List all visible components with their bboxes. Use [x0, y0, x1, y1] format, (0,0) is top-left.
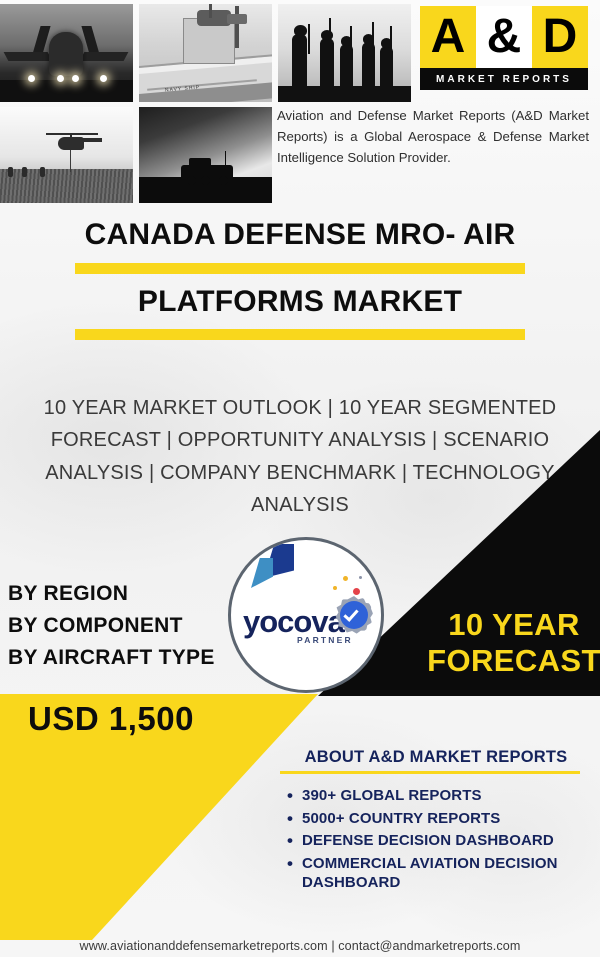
- segmentation-list: BY REGION BY COMPONENT BY AIRCRAFT TYPE: [8, 578, 215, 674]
- price-label: USD 1,500: [28, 700, 194, 738]
- verified-check-icon: [335, 596, 373, 634]
- about-bullet-country-reports: 5000+ COUNTRY REPORTS: [302, 809, 596, 829]
- yocova-partner-label: PARTNER: [297, 635, 353, 645]
- photo-aircraft-carrier: NAVY SHIP: [139, 4, 272, 102]
- forecast-callout: 10 YEAR FORECAST: [430, 608, 598, 641]
- segment-item-aircraft-type: BY AIRCRAFT TYPE: [8, 642, 215, 674]
- segment-item-component: BY COMPONENT: [8, 610, 215, 642]
- about-bullet-defense-dashboard: DEFENSE DECISION DASHBOARD: [302, 831, 596, 851]
- forecast-line-2: FORECAST: [414, 644, 600, 677]
- yocova-partner-badge: yocova PARTNER: [228, 537, 384, 693]
- about-bullet-commercial-dashboard: COMMERCIAL AVIATION DECISION DASHBOARD: [302, 854, 596, 893]
- report-scope-text: 10 YEAR MARKET OUTLOOK | 10 YEAR SEGMENT…: [18, 392, 582, 522]
- logo-letter-ampersand: &: [476, 6, 532, 68]
- report-title-line-1: CANADA DEFENSE MRO- AIR: [0, 216, 600, 254]
- about-panel: ABOUT A&D MARKET REPORTS 390+ GLOBAL REP…: [276, 748, 596, 896]
- photo-armored-vehicle: [139, 107, 272, 203]
- company-intro-text: Aviation and Defense Market Reports (A&D…: [277, 106, 589, 169]
- poster-canvas: NAVY SHIP: [0, 0, 600, 957]
- logo-letter-d: D: [532, 6, 588, 68]
- logo-letters: A & D: [420, 6, 588, 68]
- photo-helicopter: [0, 107, 133, 203]
- logo-letter-a: A: [420, 6, 476, 68]
- footer-contact: www.aviationanddefensemarketreports.com …: [0, 939, 600, 953]
- about-heading-underline: [280, 771, 580, 774]
- photo-soldiers: [278, 4, 411, 102]
- report-title-line-2: PLATFORMS MARKET: [0, 283, 600, 321]
- report-title: CANADA DEFENSE MRO- AIR PLATFORMS MARKET: [0, 216, 600, 349]
- yocova-shape-light-icon: [251, 558, 273, 588]
- forecast-line-1: 10 YEAR: [430, 608, 598, 641]
- ad-market-reports-logo: A & D MARKET REPORTS: [420, 6, 588, 92]
- logo-tagline: MARKET REPORTS: [420, 68, 588, 90]
- about-bullet-global-reports: 390+ GLOBAL REPORTS: [302, 786, 596, 806]
- about-bullet-list: 390+ GLOBAL REPORTS 5000+ COUNTRY REPORT…: [302, 786, 596, 893]
- photo-fighter-jet: [0, 4, 133, 102]
- about-heading: ABOUT A&D MARKET REPORTS: [276, 748, 596, 767]
- title-rule-top: [75, 263, 525, 274]
- segment-item-region: BY REGION: [8, 578, 215, 610]
- title-rule-bottom: [75, 329, 525, 340]
